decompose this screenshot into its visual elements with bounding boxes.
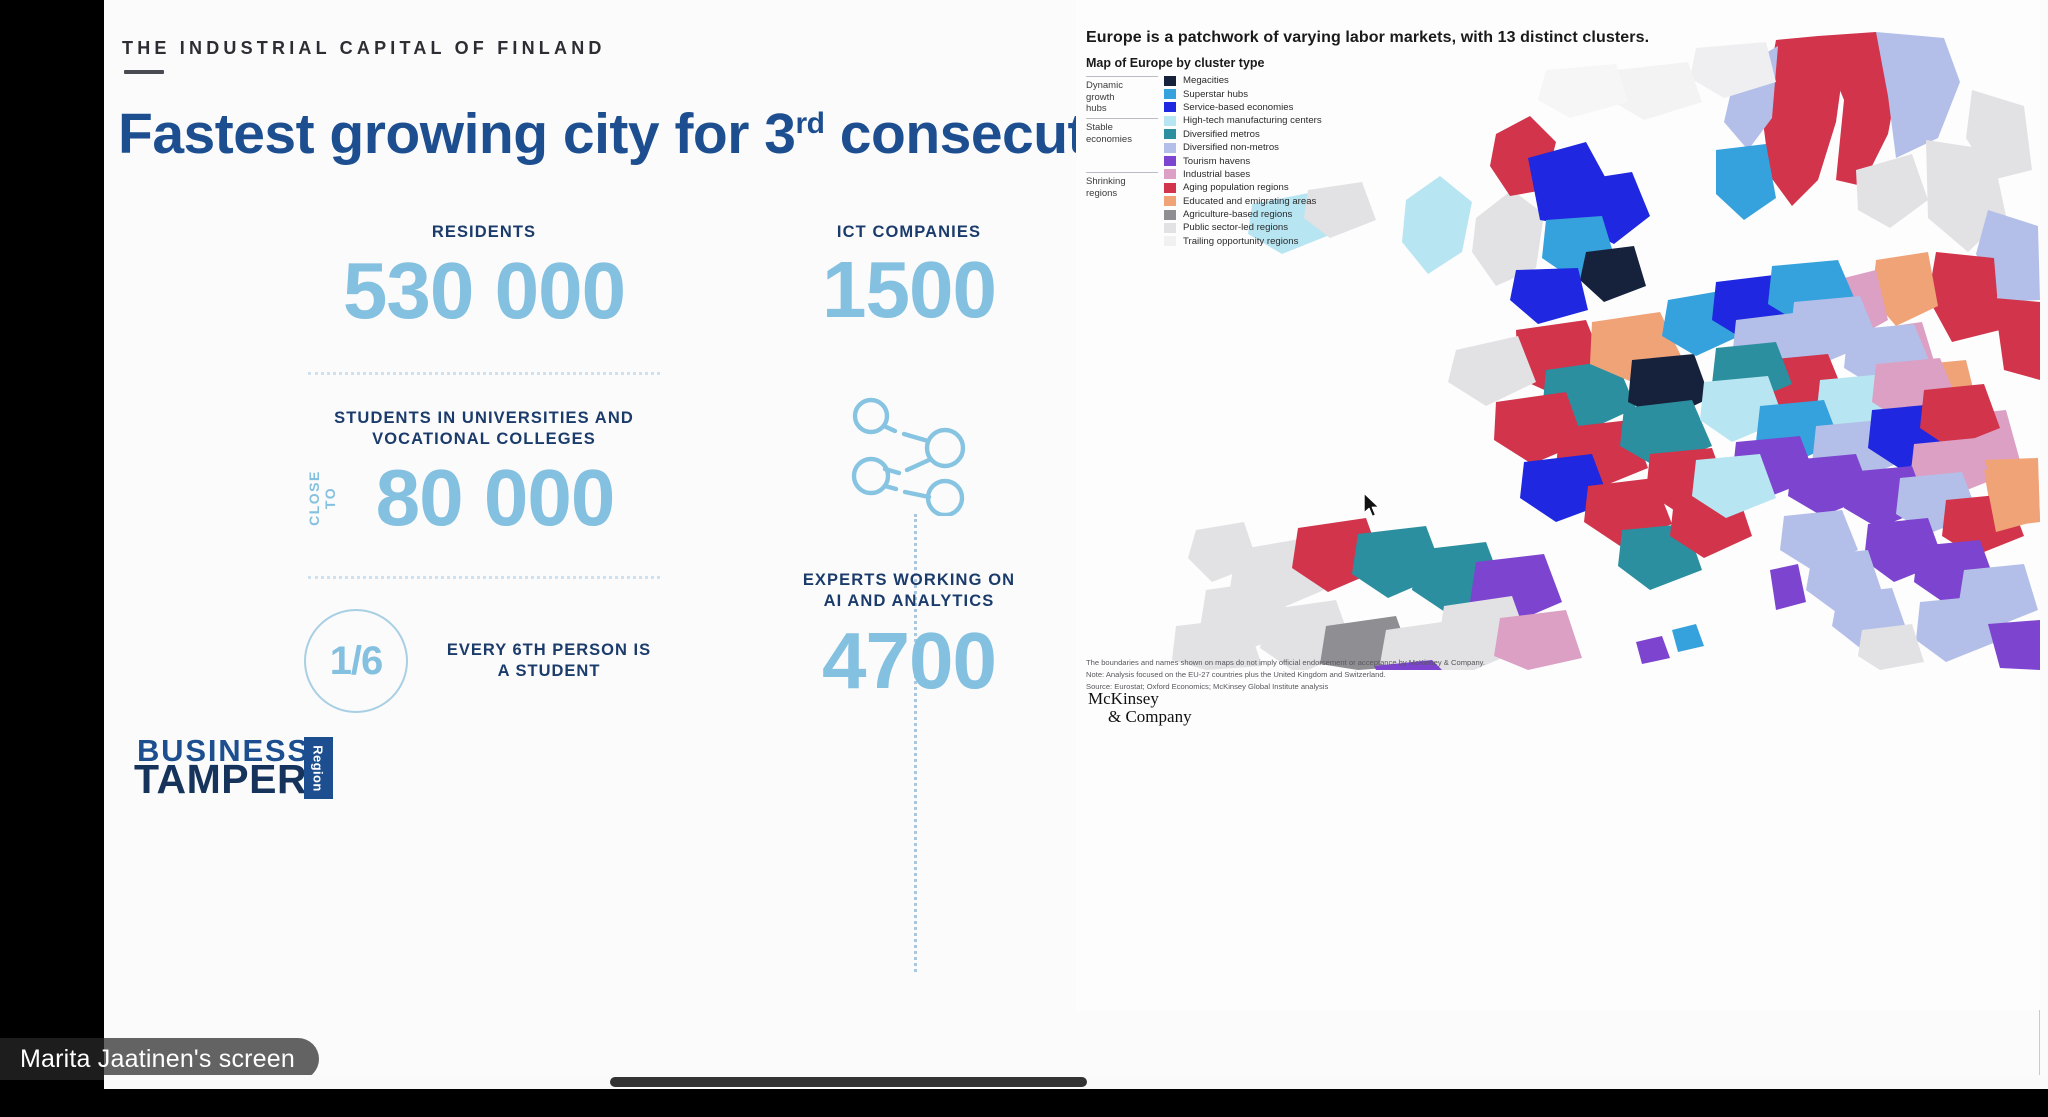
legend-item: Trailing opportunity regions: [1164, 235, 1322, 248]
legend-group-3-line1: Shrinking: [1086, 176, 1126, 188]
legend-label-public-sector-led-regions: Public sector-led regions: [1183, 222, 1288, 233]
legend-item: Service-based economies: [1164, 101, 1322, 114]
legend-group-1-line1: Dynamic: [1086, 80, 1123, 92]
stat-students: STUDENTS IN UNIVERSITIES AND VOCATIONAL …: [254, 408, 714, 540]
stat-students-value-wrap: CLOSE TO 80 000: [254, 456, 714, 540]
legend-swatch-superstar-hubs: [1164, 89, 1176, 99]
mckinsey-logo-line1: McKinsey: [1088, 690, 1192, 708]
stat-students-prefix-line1: CLOSE: [306, 470, 322, 526]
legend-item: Tourism havens: [1164, 154, 1322, 167]
legend-group-rule-3: [1086, 172, 1158, 173]
legend-item: Diversified metros: [1164, 128, 1322, 141]
stat-ratio: 1/6 EVERY 6TH PERSON IS A STUDENT: [254, 609, 714, 713]
ratio-description-line2: A STUDENT: [434, 661, 664, 682]
legend-item: Aging population regions: [1164, 181, 1322, 194]
legend-swatch-tourism-havens: [1164, 156, 1176, 166]
legend-item: Megacities: [1164, 74, 1322, 87]
legend-item-list: Megacities Superstar hubs Service-based …: [1164, 74, 1322, 248]
screen-share-label: Marita Jaatinen's screen: [0, 1038, 319, 1080]
stat-students-label-line1: STUDENTS IN UNIVERSITIES AND: [254, 408, 714, 429]
legend-group-3-line2: regions: [1086, 188, 1126, 200]
legend-swatch-service-based-economies: [1164, 102, 1176, 112]
legend-group-shrinking-regions: Shrinking regions: [1086, 176, 1126, 199]
headline-ordinal-suffix: rd: [795, 107, 824, 140]
legend-item: Industrial bases: [1164, 168, 1322, 181]
mckinsey-logo-line2: & Company: [1088, 708, 1192, 726]
stat-ai-label-line2: AI AND ANALYTICS: [724, 591, 1094, 612]
legend-swatch-megacities: [1164, 76, 1176, 86]
legend-swatch-aging-population-regions: [1164, 183, 1176, 193]
network-nodes-icon: [724, 394, 1094, 516]
legend-item: Agriculture-based regions: [1164, 208, 1322, 221]
kicker-underline: [124, 70, 164, 74]
stat-ai-label-line1: EXPERTS WORKING ON: [724, 570, 1094, 591]
stat-ai-value: 4700: [724, 619, 1094, 703]
mckinsey-exhibit: Europe is a patchwork of varying labor m…: [1076, 0, 2040, 1010]
shared-slide: THE INDUSTRIAL CAPITAL OF FINLAND Fastes…: [104, 0, 2048, 1082]
stat-residents-value: 530 000: [254, 249, 714, 333]
mckinsey-logo: McKinsey & Company: [1088, 690, 1192, 726]
stat-ict: ICT COMPANIES 1500: [724, 222, 1094, 332]
stat-divider-2: [308, 576, 660, 579]
legend-swatch-agriculture-based-regions: [1164, 210, 1176, 220]
legend-label-diversified-non-metros: Diversified non-metros: [1183, 142, 1279, 153]
legend-swatch-public-sector-led-regions: [1164, 223, 1176, 233]
legend-label-trailing-opportunity-regions: Trailing opportunity regions: [1183, 236, 1298, 247]
slide-kicker: THE INDUSTRIAL CAPITAL OF FINLAND: [122, 38, 606, 59]
legend-group-2-line1: Stable: [1086, 122, 1132, 134]
mckinsey-footnote-line2: Note: Analysis focused on the EU-27 coun…: [1086, 669, 1706, 681]
legend-label-superstar-hubs: Superstar hubs: [1183, 89, 1248, 100]
screen-share-viewport: THE INDUSTRIAL CAPITAL OF FINLAND Fastes…: [0, 0, 2048, 1117]
letterbox-left: [0, 0, 104, 1117]
stat-residents-label: RESIDENTS: [254, 222, 714, 243]
legend-swatch-educated-and-emigrating-areas: [1164, 196, 1176, 206]
legend-label-aging-population-regions: Aging population regions: [1183, 182, 1289, 193]
legend-item: Educated and emigrating areas: [1164, 195, 1322, 208]
legend-label-agriculture-based-regions: Agriculture-based regions: [1183, 209, 1292, 220]
stat-residents: RESIDENTS 530 000: [254, 222, 714, 333]
ratio-description-line1: EVERY 6TH PERSON IS: [434, 640, 664, 661]
mckinsey-footnote: The boundaries and names shown on maps d…: [1086, 657, 1706, 692]
logo-region-badge: Region: [304, 737, 333, 799]
stat-ict-value: 1500: [724, 248, 1094, 332]
stat-students-prefix: CLOSE TO: [306, 470, 338, 526]
stats-column-left: RESIDENTS 530 000 STUDENTS IN UNIVERSITI…: [254, 222, 714, 713]
bottom-letterbox: [0, 1089, 2048, 1117]
stat-divider-1: [308, 372, 660, 375]
legend-item: Superstar hubs: [1164, 87, 1322, 100]
stats-column-right: ICT COMPANIES 1500: [724, 222, 1094, 703]
legend-group-1-line2: growth: [1086, 92, 1123, 104]
legend-group-1-line3: hubs: [1086, 103, 1123, 115]
ratio-circle: 1/6: [304, 609, 408, 713]
mckinsey-footnote-line1: The boundaries and names shown on maps d…: [1086, 657, 1706, 669]
legend-label-high-tech-manufacturing-centers: High-tech manufacturing centers: [1183, 115, 1322, 126]
legend-group-rule-2: [1086, 118, 1158, 119]
legend-label-industrial-bases: Industrial bases: [1183, 169, 1250, 180]
legend-item: Diversified non-metros: [1164, 141, 1322, 154]
headline-part-1: Fastest growing city for 3: [118, 102, 795, 166]
legend-swatch-industrial-bases: [1164, 169, 1176, 179]
stat-students-value: 80 000: [354, 456, 615, 540]
screen-share-label-text: Marita Jaatinen's screen: [20, 1045, 295, 1074]
legend-label-tourism-havens: Tourism havens: [1183, 156, 1250, 167]
legend-group-stable-economies: Stable economies: [1086, 122, 1132, 145]
legend-group-dynamic-growth-hubs: Dynamic growth hubs: [1086, 80, 1123, 115]
legend-item: Public sector-led regions: [1164, 221, 1322, 234]
legend-group-2-line2: economies: [1086, 134, 1132, 146]
stat-students-prefix-line2: TO: [322, 470, 338, 526]
legend-item: High-tech manufacturing centers: [1164, 114, 1322, 127]
legend-group-rule-1: [1086, 76, 1158, 77]
statistics-grid: RESIDENTS 530 000 STUDENTS IN UNIVERSITI…: [104, 222, 1144, 702]
legend-label-educated-and-emigrating-areas: Educated and emigrating areas: [1183, 196, 1316, 207]
business-tampere-logo: BUSINESS TAMPERE Region: [134, 735, 339, 799]
mouse-cursor: [1363, 492, 1381, 518]
legend-swatch-diversified-non-metros: [1164, 143, 1176, 153]
ratio-description: EVERY 6TH PERSON IS A STUDENT: [434, 640, 664, 682]
legend-swatch-high-tech-manufacturing-centers: [1164, 116, 1176, 126]
horizontal-scrollbar-thumb[interactable]: [610, 1077, 1087, 1087]
stat-students-label-line2: VOCATIONAL COLLEGES: [254, 429, 714, 450]
stat-ai: EXPERTS WORKING ON AI AND ANALYTICS 4700: [724, 570, 1094, 703]
legend-label-service-based-economies: Service-based economies: [1183, 102, 1293, 113]
legend-label-diversified-metros: Diversified metros: [1183, 129, 1260, 140]
legend-swatch-diversified-metros: [1164, 129, 1176, 139]
logo-region-label: Region: [311, 745, 326, 791]
stat-ict-label: ICT COMPANIES: [724, 222, 1094, 243]
legend-label-megacities: Megacities: [1183, 75, 1229, 86]
legend-swatch-trailing-opportunity-regions: [1164, 236, 1176, 246]
